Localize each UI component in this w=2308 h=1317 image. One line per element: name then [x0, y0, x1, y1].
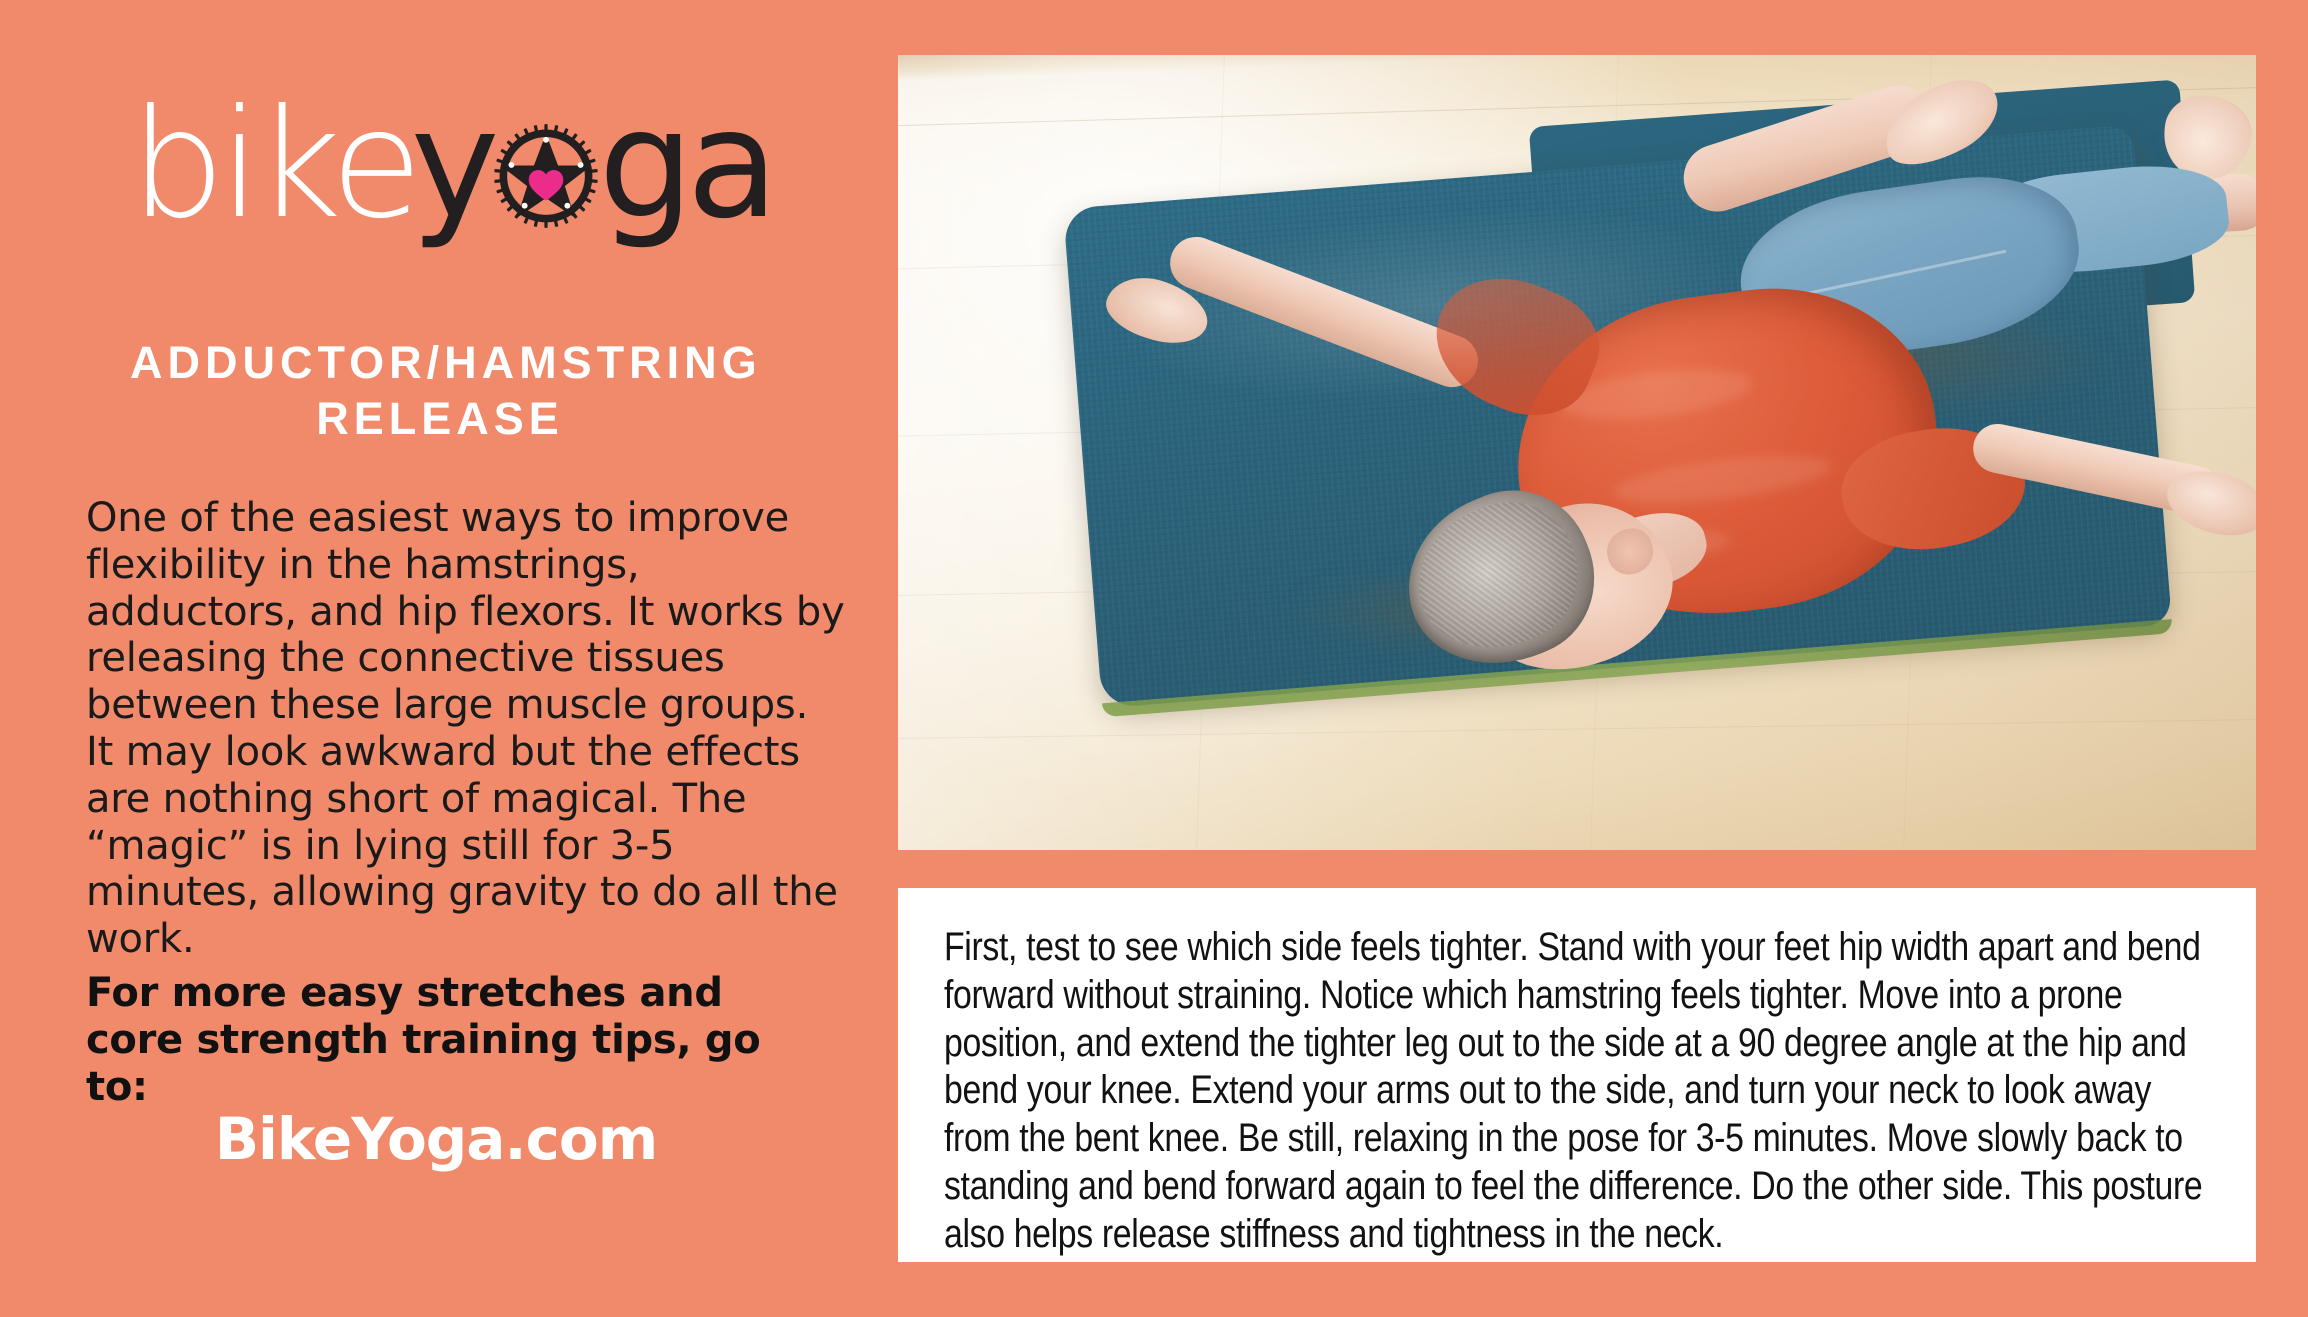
- site-url-link[interactable]: BikeYoga.com: [86, 1105, 786, 1173]
- body-copy: One of the easiest ways to improve flexi…: [86, 495, 846, 963]
- shirt-fold: [1611, 447, 1833, 512]
- bent-foot: [1871, 63, 2011, 181]
- logo-text-ga: ga: [598, 90, 771, 240]
- logo-text-bike: bike: [130, 90, 417, 240]
- instructions-panel: First, test to see which side feels tigh…: [898, 888, 2256, 1262]
- page-title: ADDUCTOR/HAMSTRING RELEASE: [130, 335, 750, 448]
- instructions-text: First, test to see which side feels tigh…: [944, 924, 2210, 1259]
- shorts-seam: [1787, 249, 2007, 299]
- logo-wordmark: bike y: [130, 90, 772, 240]
- left-column: bike y: [0, 0, 880, 1317]
- person-in-pose: [898, 55, 2256, 850]
- pose-photo-image: [898, 55, 2256, 850]
- left-arm: [1163, 229, 1486, 395]
- pose-photo: [898, 55, 2256, 850]
- bikeyoga-logo[interactable]: bike y: [130, 85, 760, 245]
- chainring-star-heart-icon: [492, 122, 600, 230]
- cta-text: For more easy stretches and core strengt…: [86, 970, 826, 1110]
- logo-text-y: y: [411, 90, 493, 240]
- poster: bike y: [0, 0, 2308, 1317]
